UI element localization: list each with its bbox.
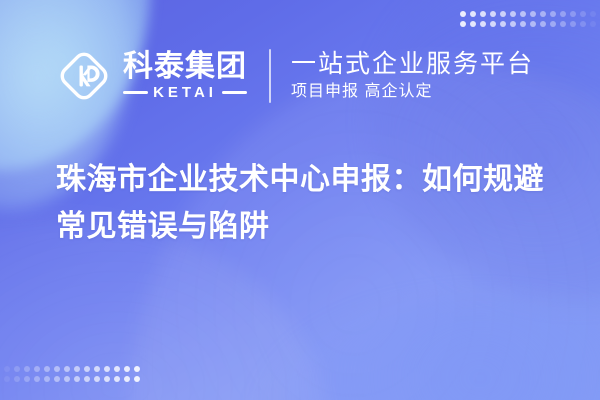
decorative-dot [34,366,40,372]
ketai-diamond-kt-monogram-icon [56,48,112,104]
decorative-dot [124,366,130,372]
decorative-dot [510,21,516,27]
decorative-dot [64,366,70,372]
decorative-dot [74,376,80,382]
decorative-dot [104,376,110,382]
dot-row [4,366,140,372]
decorative-dot [134,366,140,372]
decorative-dot [500,21,506,27]
decorative-dot [470,21,476,27]
decorative-dot [560,21,566,27]
decorative-dot [530,11,536,17]
decorative-dot [114,366,120,372]
decorative-dot [480,21,486,27]
decorative-dot-grid-top-right [460,11,596,27]
decorative-dot [520,11,526,17]
decorative-dot [480,11,486,17]
decorative-dot [580,21,586,27]
decorative-dot [94,366,100,372]
decorative-dot [44,366,50,372]
decorative-dot [590,11,596,17]
decorative-dot [64,376,70,382]
decorative-dot [470,11,476,17]
dot-row [460,21,596,27]
background-glow-bottom [250,300,600,400]
decorative-dot [124,376,130,382]
decorative-dot [550,21,556,27]
decorative-dot [520,21,526,27]
decorative-dot [44,376,50,382]
decorative-dot [34,376,40,382]
decorative-dot [540,11,546,17]
decorative-dot [54,366,60,372]
tagline-secondary: 项目申报 高企认定 [291,84,534,101]
brand-wordmark: 科泰集团 KETAI [123,52,247,100]
decorative-dot [24,376,30,382]
decorative-dot [14,366,20,372]
promo-banner: 科泰集团 KETAI 一站式企业服务平台 项目申报 高企认定 珠海市企业技术中心… [0,0,600,400]
decorative-dot [460,11,466,17]
decorative-dot [114,376,120,382]
decorative-dot [460,21,466,27]
decorative-dot [580,11,586,17]
decorative-dot [4,366,10,372]
brand-name-en-row: KETAI [123,85,247,100]
decorative-dot [104,366,110,372]
decorative-dot [530,21,536,27]
decorative-dot [570,21,576,27]
dot-row [460,11,596,17]
decorative-dot [490,11,496,17]
decorative-dot [14,376,20,382]
wordmark-rule-right [222,91,247,94]
decorative-dot-grid-bottom-left [4,366,140,382]
decorative-dot [84,366,90,372]
decorative-dot [134,376,140,382]
banner-header: 科泰集团 KETAI 一站式企业服务平台 项目申报 高企认定 [56,38,534,114]
page-title: 珠海市企业技术中心申报：如何规避常见错误与陷阱 [56,156,556,251]
header-divider [269,49,271,103]
decorative-dot [4,376,10,382]
brand-name-cn: 科泰集团 [123,52,247,83]
decorative-dot [560,11,566,17]
wordmark-rule-left [123,91,148,94]
decorative-dot [500,11,506,17]
decorative-dot [590,21,596,27]
brand-name-en: KETAI [153,85,217,100]
decorative-dot [74,366,80,372]
decorative-dot [24,366,30,372]
decorative-dot [84,376,90,382]
decorative-dot [570,11,576,17]
decorative-dot [510,11,516,17]
title-block: 珠海市企业技术中心申报：如何规避常见错误与陷阱 [56,156,556,251]
dot-row [4,376,140,382]
tagline-primary: 一站式企业服务平台 [291,51,534,77]
decorative-dot [550,11,556,17]
tagline-block: 一站式企业服务平台 项目申报 高企认定 [291,51,534,100]
brand-logo-lockup: 科泰集团 KETAI [56,48,247,104]
decorative-dot [94,376,100,382]
decorative-dot [490,21,496,27]
decorative-dot [540,21,546,27]
decorative-dot [54,376,60,382]
